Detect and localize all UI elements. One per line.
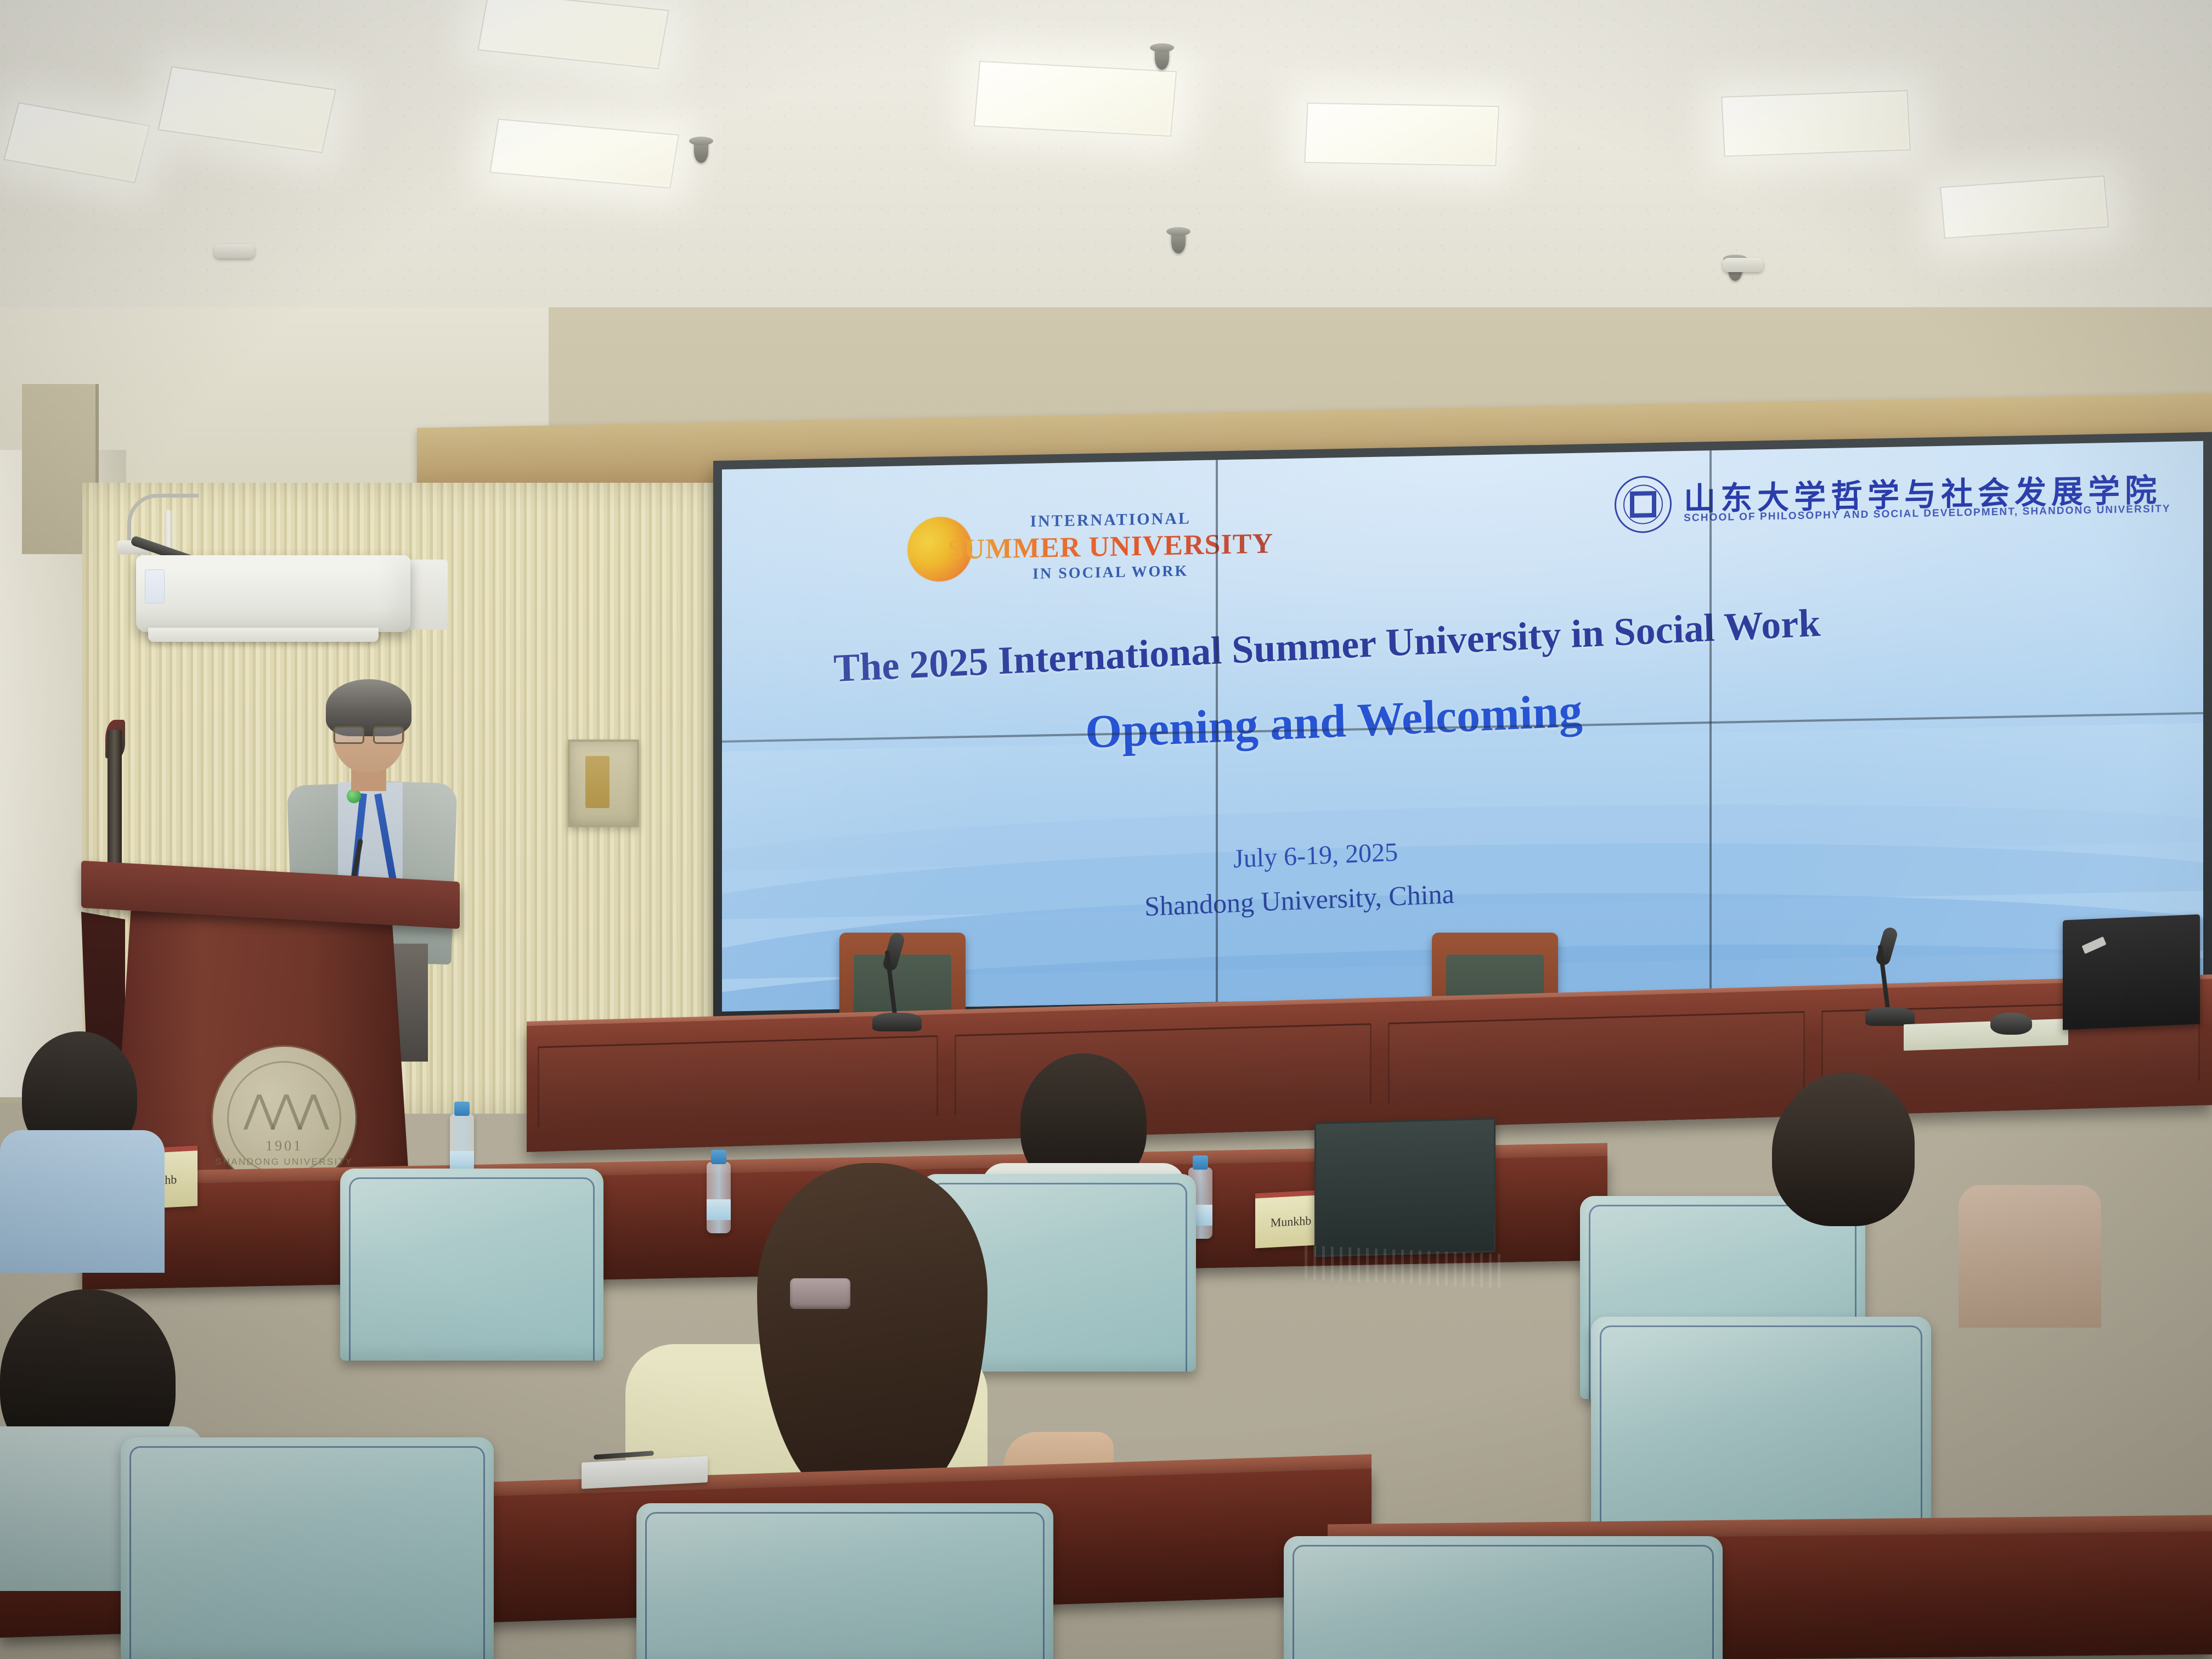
- chair-piping: [1293, 1545, 1714, 1659]
- bottle-label: [707, 1199, 731, 1220]
- table-microphone[interactable]: [1865, 927, 1915, 1026]
- computer-mouse[interactable]: [1990, 1013, 2032, 1035]
- table-front-panel: [955, 1023, 1372, 1117]
- wall-speaker: [568, 740, 639, 827]
- chair-piping: [129, 1446, 485, 1659]
- speaker-glasses: [334, 726, 404, 741]
- table-microphone[interactable]: [872, 933, 922, 1031]
- chair-piping: [645, 1512, 1045, 1659]
- hair-claw-clip: [790, 1278, 850, 1309]
- audience-chair[interactable]: [340, 1169, 603, 1361]
- ceiling-light-panel: [974, 61, 1177, 137]
- smoke-detector: [1723, 258, 1763, 272]
- air-conditioner[interactable]: [136, 555, 410, 632]
- projector-cable: [127, 494, 199, 543]
- mic-base: [872, 1013, 922, 1031]
- sprinkler-head: [1155, 47, 1169, 70]
- chair-piping: [349, 1177, 595, 1361]
- front-laptop[interactable]: [2063, 917, 2212, 1043]
- conference-room-photo: INTERNATIONAL SUMMER UNIVERSITY IN SOCIA…: [0, 0, 2212, 1659]
- ac-label-sticker: [145, 569, 165, 603]
- bottle-cap: [1193, 1155, 1208, 1170]
- bottle-cap: [711, 1150, 726, 1164]
- audience-head: [1772, 1078, 1915, 1226]
- audience-woman-hair: [757, 1163, 988, 1503]
- water-bottle[interactable]: [707, 1162, 731, 1233]
- presentation-screen[interactable]: INTERNATIONAL SUMMER UNIVERSITY IN SOCIA…: [722, 441, 2203, 1012]
- table-front-panel: [1388, 1011, 1805, 1105]
- shandong-school-logo: 山东大学哲学与社会发展学院 SCHOOL OF PHILOSOPHY AND S…: [1615, 466, 2170, 533]
- ac-side-cover: [405, 560, 448, 630]
- audience-chair[interactable]: [121, 1437, 494, 1659]
- audience-shoulders: [0, 1130, 165, 1273]
- audience-laptop[interactable]: [1305, 1120, 1519, 1290]
- slide: INTERNATIONAL SUMMER UNIVERSITY IN SOCIA…: [722, 441, 2203, 1012]
- ceiling-light-panel: [1304, 103, 1499, 166]
- bottle-cap: [454, 1102, 470, 1116]
- seal-inner-square: [1630, 491, 1656, 518]
- logo-line-summer-university: SUMMER UNIVERSITY: [948, 527, 1273, 566]
- shandong-school-logo-text: 山东大学哲学与社会发展学院 SCHOOL OF PHILOSOPHY AND S…: [1684, 474, 2170, 524]
- mic-base: [1865, 1007, 1915, 1026]
- slide-title: The 2025 International Summer University…: [833, 600, 1821, 691]
- audience-chair[interactable]: [1591, 1317, 1931, 1553]
- audience-chair[interactable]: [1284, 1536, 1723, 1659]
- laptop-lid: [2063, 915, 2200, 1030]
- seal-year: 1901: [213, 1138, 356, 1154]
- seal-university-name: SHANDONG UNIVERSITY: [213, 1156, 356, 1167]
- sprinkler-head: [694, 140, 708, 163]
- smoke-detector: [214, 244, 255, 258]
- audience-chair[interactable]: [636, 1503, 1053, 1659]
- summer-university-logo-text: INTERNATIONAL SUMMER UNIVERSITY IN SOCIA…: [948, 507, 1273, 584]
- summer-university-logo: INTERNATIONAL SUMMER UNIVERSITY IN SOCIA…: [907, 507, 1273, 585]
- audience-shoulders: [1959, 1185, 2101, 1328]
- ceiling-light-panel: [1721, 90, 1911, 157]
- seal-mountains-icon: ⋀⋀⋀: [244, 1087, 325, 1132]
- sprinkler-head: [1171, 230, 1186, 253]
- shandong-university-seal-icon: [1615, 476, 1672, 534]
- laptop-screen: [1314, 1118, 1496, 1257]
- table-front-panel: [538, 1035, 938, 1128]
- laptop-badge: [2082, 936, 2107, 954]
